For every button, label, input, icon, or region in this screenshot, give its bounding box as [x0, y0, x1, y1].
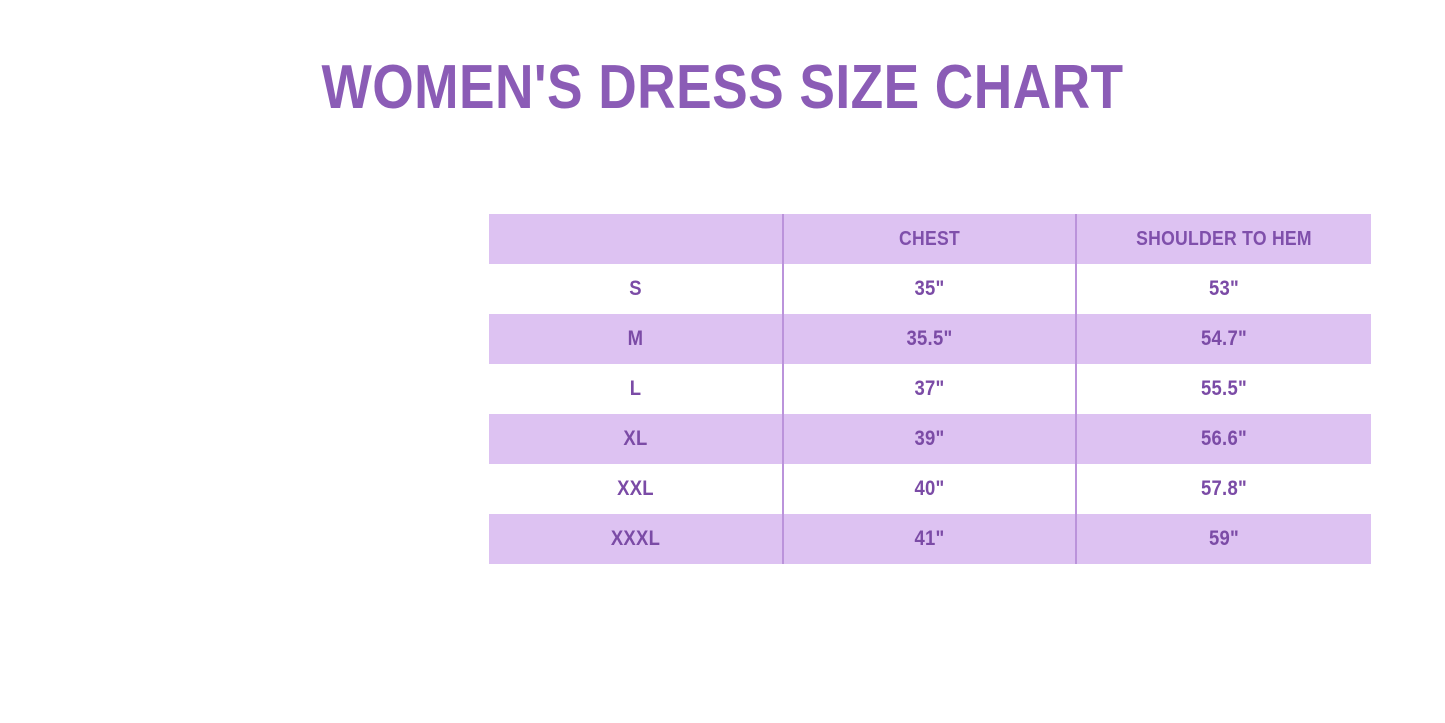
header-label-chest: CHEST: [801, 228, 1057, 251]
shoulder-to-hem-value: 55.5": [1095, 377, 1354, 401]
cell-shoulder-to-hem: 57.8": [1076, 464, 1371, 514]
cell-shoulder-to-hem: 54.7": [1076, 314, 1371, 364]
size-label: XL: [507, 427, 765, 451]
cell-size: XL: [489, 414, 783, 464]
header-cell-size: [489, 214, 783, 264]
cell-chest: 35": [783, 264, 1076, 314]
header-cell-chest: CHEST: [783, 214, 1076, 264]
table-row: S 35" 53": [489, 264, 1371, 314]
cell-chest: 35.5": [783, 314, 1076, 364]
cell-shoulder-to-hem: 55.5": [1076, 364, 1371, 414]
shoulder-to-hem-value: 59": [1095, 527, 1354, 551]
table-header: CHEST SHOULDER TO HEM: [489, 214, 1371, 264]
header-label-shoulder-to-hem: SHOULDER TO HEM: [1095, 228, 1354, 251]
table-body: S 35" 53" M 35.5": [489, 264, 1371, 564]
size-chart-page: WOMEN'S DRESS SIZE CHART CHEST SHOULDER …: [0, 0, 1445, 723]
table-header-row: CHEST SHOULDER TO HEM: [489, 214, 1371, 264]
shoulder-to-hem-value: 53": [1095, 277, 1354, 301]
cell-chest: 37": [783, 364, 1076, 414]
chest-value: 35.5": [801, 327, 1057, 351]
size-label: S: [507, 277, 765, 301]
size-label: XXL: [507, 477, 765, 501]
page-title: WOMEN'S DRESS SIZE CHART: [101, 55, 1344, 120]
header-cell-shoulder-to-hem: SHOULDER TO HEM: [1076, 214, 1371, 264]
cell-size: XXL: [489, 464, 783, 514]
size-chart-table-wrap: CHEST SHOULDER TO HEM S 35" 53": [489, 214, 1371, 564]
table-row: L 37" 55.5": [489, 364, 1371, 414]
chest-value: 41": [801, 527, 1057, 551]
table-row: XXL 40" 57.8": [489, 464, 1371, 514]
cell-chest: 40": [783, 464, 1076, 514]
cell-size: M: [489, 314, 783, 364]
cell-size: S: [489, 264, 783, 314]
shoulder-to-hem-value: 54.7": [1095, 327, 1354, 351]
size-label: M: [507, 327, 765, 351]
cell-chest: 39": [783, 414, 1076, 464]
shoulder-to-hem-value: 57.8": [1095, 477, 1354, 501]
size-label: XXXL: [507, 527, 765, 551]
chest-value: 35": [801, 277, 1057, 301]
table-row: XL 39" 56.6": [489, 414, 1371, 464]
cell-shoulder-to-hem: 56.6": [1076, 414, 1371, 464]
size-label: L: [507, 377, 765, 401]
size-chart-table: CHEST SHOULDER TO HEM S 35" 53": [489, 214, 1371, 564]
cell-chest: 41": [783, 514, 1076, 564]
chest-value: 37": [801, 377, 1057, 401]
chest-value: 40": [801, 477, 1057, 501]
cell-size: L: [489, 364, 783, 414]
chest-value: 39": [801, 427, 1057, 451]
cell-size: XXXL: [489, 514, 783, 564]
cell-shoulder-to-hem: 59": [1076, 514, 1371, 564]
table-row: XXXL 41" 59": [489, 514, 1371, 564]
cell-shoulder-to-hem: 53": [1076, 264, 1371, 314]
table-row: M 35.5" 54.7": [489, 314, 1371, 364]
shoulder-to-hem-value: 56.6": [1095, 427, 1354, 451]
